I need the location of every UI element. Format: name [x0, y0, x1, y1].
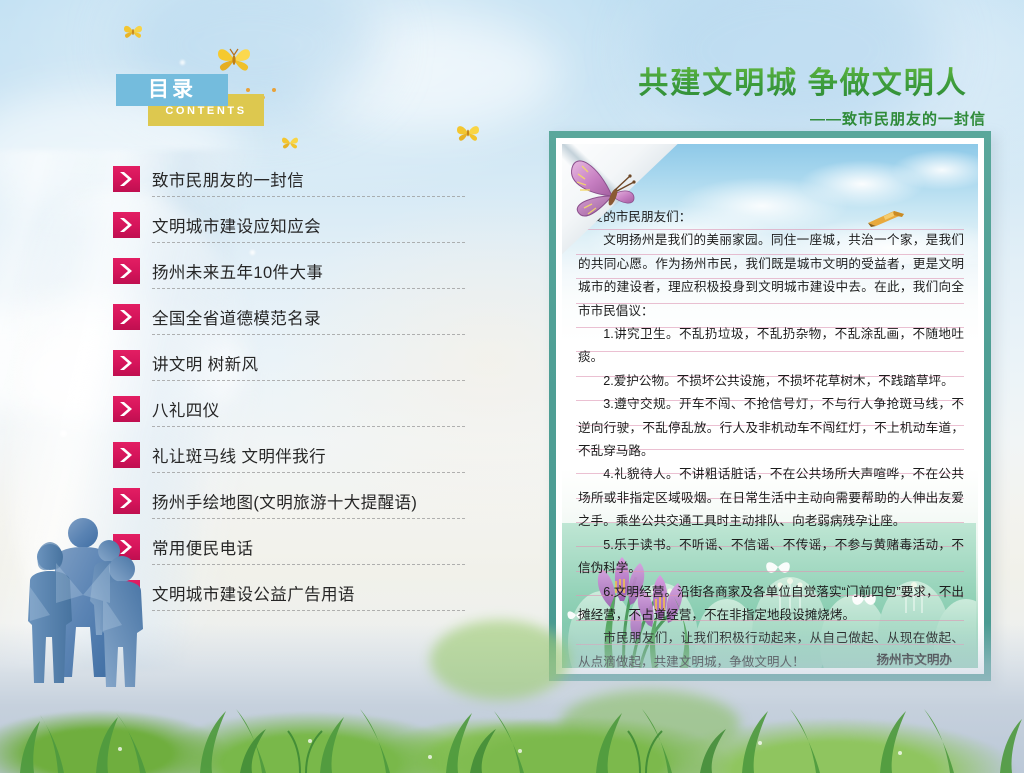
- chevron-right-icon: [113, 442, 140, 468]
- toc-header: CONTENTS 目录: [116, 74, 266, 126]
- letter-item-4: 4.礼貌待人。不讲粗话脏话，不在公共场所大声喧哗，不在公共场所或非指定区域吸烟。…: [578, 463, 964, 533]
- toc-item-label: 致市民朋友的一封信: [152, 167, 304, 191]
- pen-icon: [864, 208, 908, 228]
- letter-intro: 文明扬州是我们的美丽家园。同住一座城，共治一个家，是我们的共同心愿。作为扬州市民…: [578, 229, 964, 323]
- toc-title-band: 目录: [116, 74, 228, 106]
- headline-sub: ——致市民朋友的一封信: [598, 108, 1008, 129]
- chevron-right-icon: [113, 212, 140, 238]
- butterfly-purple-icon: [568, 150, 654, 228]
- headline-block: 共建文明城 争做文明人 ——致市民朋友的一封信: [598, 58, 1008, 129]
- toc-item-label: 文明城市建设应知应会: [152, 213, 321, 237]
- toc-item-label: 全国全省道德模范名录: [152, 305, 321, 329]
- toc-item-1[interactable]: 致市民朋友的一封信: [113, 157, 465, 201]
- toc-title-label: 目录: [116, 74, 228, 106]
- toc-leader-dots: [152, 333, 465, 335]
- letter-item-3: 3.遵守交规。开车不闯、不抢信号灯，不与行人争抢斑马线，不逆向行驶，不乱停乱放。…: [578, 393, 964, 463]
- chevron-right-icon: [113, 258, 140, 284]
- letter-card: 亲爱的市民朋友们：文明扬州是我们的美丽家园。同住一座城，共治一个家，是我们的共同…: [549, 131, 991, 681]
- toc-item-4[interactable]: 全国全省道德模范名录: [113, 295, 465, 339]
- letter-item-1: 1.讲究卫生。不乱扔垃圾，不乱扔杂物，不乱涂乱画，不随地吐痰。: [578, 323, 964, 370]
- butterfly-yellow-icon: [455, 123, 481, 144]
- toc-item-3[interactable]: 扬州未来五年10件大事: [113, 249, 465, 293]
- headline-main: 共建文明城 争做文明人: [598, 58, 1008, 102]
- sparkle-dot: [180, 60, 185, 65]
- butterfly-yellow-icon: [122, 23, 144, 41]
- chevron-right-icon: [113, 166, 140, 192]
- toc-item-label: 讲文明 树新风: [152, 351, 258, 375]
- toc-item-6[interactable]: 八礼四仪: [113, 387, 465, 431]
- toc-leader-dots: [152, 425, 465, 427]
- letter-item-5: 5.乐于读书。不听谣、不信谣、不传谣，不参与黄赌毒活动，不信伪科学。: [578, 534, 964, 581]
- letter-item-2: 2.爱护公物。不损坏公共设施，不损坏花草树木，不践踏草坪。: [578, 370, 964, 393]
- toc-leader-dots: [152, 287, 465, 289]
- toc-item-2[interactable]: 文明城市建设应知应会: [113, 203, 465, 247]
- sparkle-dot: [60, 430, 67, 437]
- toc-leader-dots: [152, 471, 465, 473]
- chevron-right-icon: [113, 350, 140, 376]
- letter-item-6: 6.文明经营。沿街各商家及各单位自觉落实“门前四包”要求，不出摊经营，不占道经营…: [578, 581, 964, 628]
- letter-body: 亲爱的市民朋友们：文明扬州是我们的美丽家园。同住一座城，共治一个家，是我们的共同…: [578, 206, 964, 668]
- toc-item-7[interactable]: 礼让斑马线 文明伴我行: [113, 433, 465, 477]
- toc-item-5[interactable]: 讲文明 树新风: [113, 341, 465, 385]
- toc-leader-dots: [152, 195, 465, 197]
- confetti-dot: [272, 88, 276, 92]
- toc-item-label: 扬州未来五年10件大事: [152, 259, 323, 283]
- butterfly-yellow-icon: [280, 135, 300, 151]
- letter-surface: 亲爱的市民朋友们：文明扬州是我们的美丽家园。同住一座城，共治一个家，是我们的共同…: [562, 144, 978, 668]
- poster-page: CONTENTS 目录 致市民朋友的一封信文明城市建设应知应会 扬州未来五年10…: [0, 0, 1024, 773]
- chevron-right-icon: [113, 396, 140, 422]
- toc-item-label: 礼让斑马线 文明伴我行: [152, 443, 326, 467]
- family-silhouette: [10, 507, 250, 737]
- chevron-right-icon: [113, 304, 140, 330]
- toc-item-label: 八礼四仪: [152, 397, 220, 421]
- letter-card-inner: 亲爱的市民朋友们：文明扬州是我们的美丽家园。同住一座城，共治一个家，是我们的共同…: [556, 138, 984, 674]
- butterfly-yellow-icon: [215, 45, 253, 75]
- toc-leader-dots: [152, 241, 465, 243]
- toc-leader-dots: [152, 379, 465, 381]
